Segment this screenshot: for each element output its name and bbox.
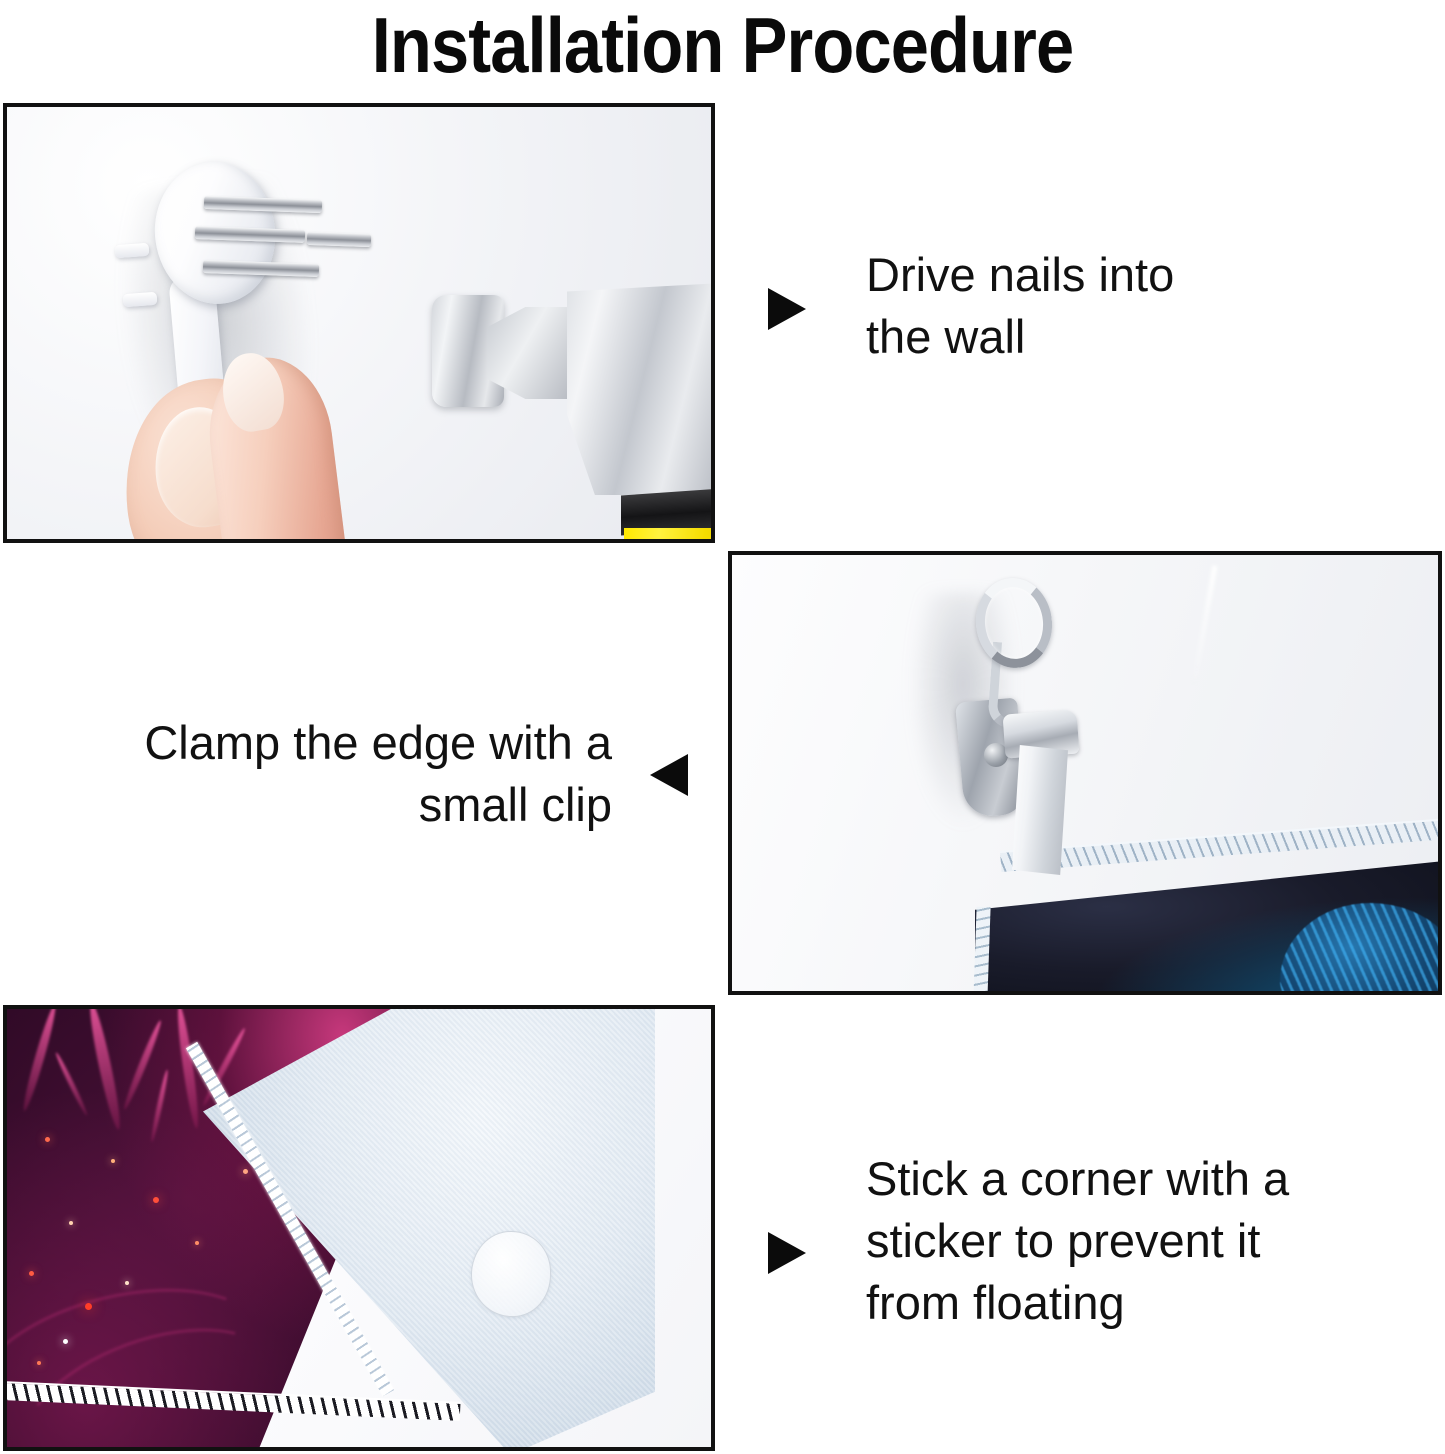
sparkle-dot <box>85 1303 92 1310</box>
sparkle-dot <box>69 1221 73 1225</box>
step-1-caption: Drive nails into the wall <box>866 244 1296 368</box>
page-title: Installation Procedure <box>87 0 1359 92</box>
blue-teal-artwork <box>1280 903 1442 995</box>
sparkle-dot <box>29 1271 34 1276</box>
magenta-wisp <box>149 1069 169 1142</box>
magenta-wisp <box>20 1005 59 1112</box>
magenta-wisp <box>86 1005 125 1131</box>
sticker-on-corner-photo <box>3 1005 715 1451</box>
magenta-wisp <box>54 1051 89 1116</box>
sparkle-dot <box>63 1339 68 1344</box>
triangle-left-icon <box>650 754 688 796</box>
sparkle-dot <box>243 1169 248 1174</box>
nails-into-wall-photo <box>3 103 715 543</box>
sparkle-dot <box>45 1137 50 1142</box>
magenta-wisp <box>121 1019 163 1111</box>
sparkle-dot <box>37 1361 41 1365</box>
hammer-handle <box>624 528 715 543</box>
sparkle-dot <box>125 1281 129 1285</box>
hammer-head <box>567 283 715 495</box>
round-clear-sticker <box>471 1231 551 1317</box>
sparkle-dot <box>153 1197 159 1203</box>
clip-on-edge-photo <box>728 551 1442 995</box>
hook-side-tab <box>115 243 150 258</box>
clip-blade <box>1012 745 1068 875</box>
nail-icon <box>307 232 371 247</box>
step-3-caption: Stick a corner with a sticker to prevent… <box>866 1148 1336 1334</box>
triangle-right-icon <box>768 288 806 330</box>
sparkle-dot <box>111 1159 115 1163</box>
step-2-caption: Clamp the edge with a small clip <box>72 712 612 836</box>
hook-side-tab <box>123 292 158 307</box>
triangle-right-icon <box>768 1232 806 1274</box>
sparkle-dot <box>195 1241 199 1245</box>
